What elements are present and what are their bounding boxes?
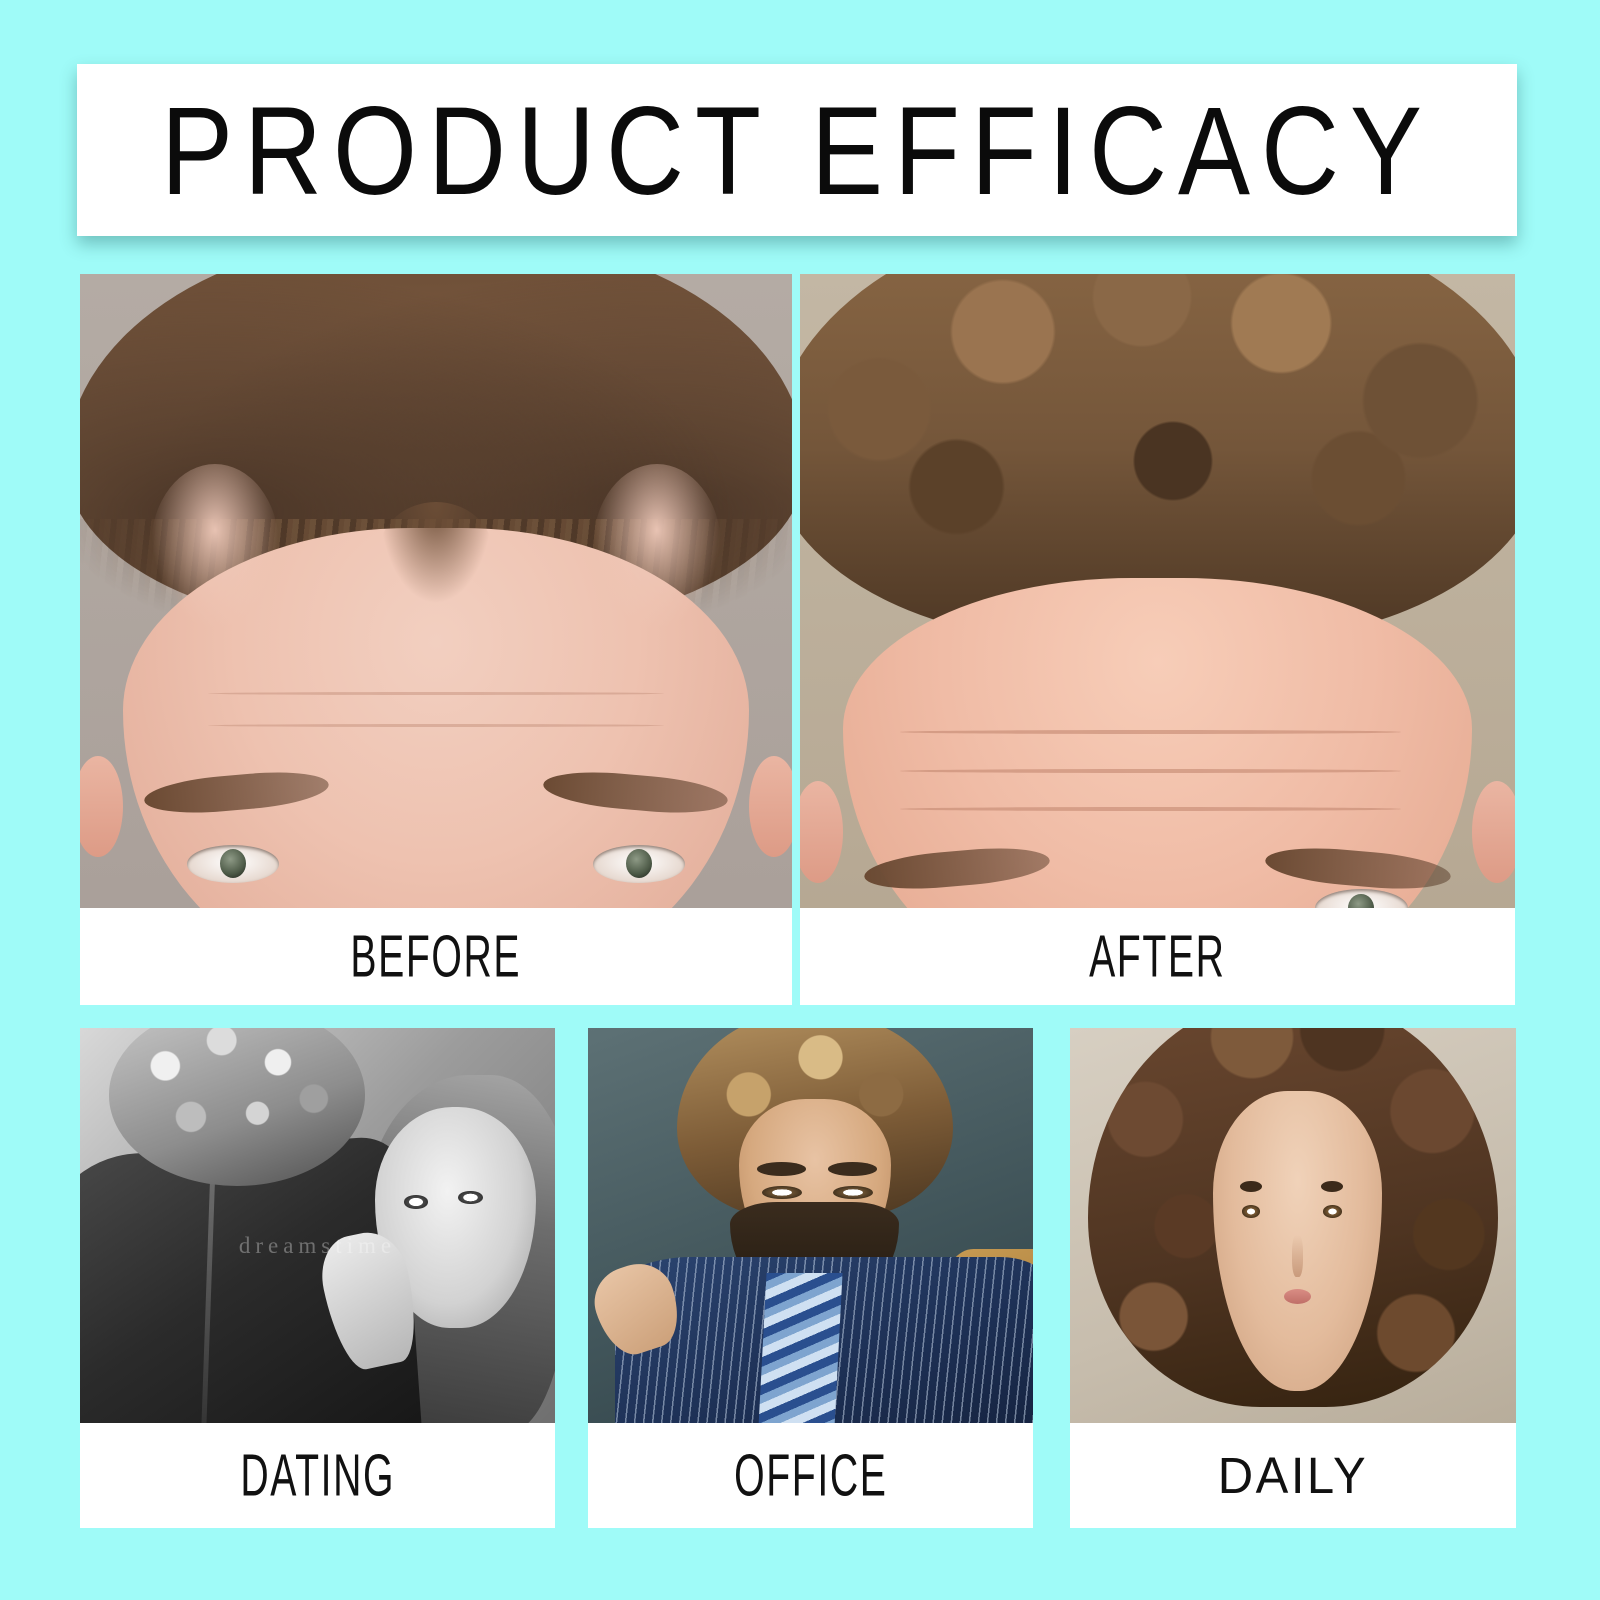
left-temple-recession [151,464,279,629]
daily-photo [1070,1028,1516,1423]
office-photo-illustration [588,1028,1033,1423]
office-card: OFFICE [560,1028,1033,1528]
after-caption-bar: AFTER [800,908,1515,1005]
forehead-wrinkle [900,769,1401,773]
before-label: BEFORE [351,922,522,990]
dating-caption-bar: DATING [80,1423,555,1528]
before-photo-illustration [80,274,792,908]
nose [1292,1235,1302,1277]
right-eye [593,845,686,883]
after-label: AFTER [1089,922,1226,990]
left-eye [1242,1205,1261,1218]
office-photo [588,1028,1033,1423]
left-ear [800,781,843,882]
after-card: AFTER [800,274,1515,1005]
before-card: BEFORE [80,274,792,1005]
lips [1284,1289,1311,1304]
left-eye [187,845,280,883]
after-photo [800,274,1515,908]
office-label: OFFICE [734,1441,887,1509]
before-caption-bar: BEFORE [80,908,792,1005]
right-eye [458,1191,482,1204]
right-ear [749,756,792,857]
before-photo [80,274,792,908]
right-eyebrow [1321,1181,1343,1192]
dating-card: dreamstime DATING [80,1028,555,1528]
forehead-wrinkle [900,807,1401,811]
daily-caption-bar: DAILY [1070,1423,1516,1528]
page-title: PRODUCT EFFICACY [161,78,1433,223]
left-ear [80,756,123,857]
right-eye [1323,1205,1342,1218]
right-temple-recession [593,464,721,629]
left-eye [404,1195,428,1208]
page-title-bar: PRODUCT EFFICACY [77,64,1517,236]
office-caption-bar: OFFICE [588,1423,1033,1528]
dating-label: DATING [240,1441,395,1509]
daily-label: DAILY [1218,1446,1368,1505]
after-photo-illustration [800,274,1515,908]
right-ear [1472,781,1515,882]
left-eyebrow [1240,1181,1262,1192]
daily-photo-illustration [1070,1028,1516,1423]
dating-photo: dreamstime [80,1028,555,1423]
striped-tie [757,1273,842,1423]
hairline-widows-peak [379,502,493,603]
daily-card: DAILY [1038,1028,1516,1528]
dating-photo-illustration [80,1028,555,1423]
